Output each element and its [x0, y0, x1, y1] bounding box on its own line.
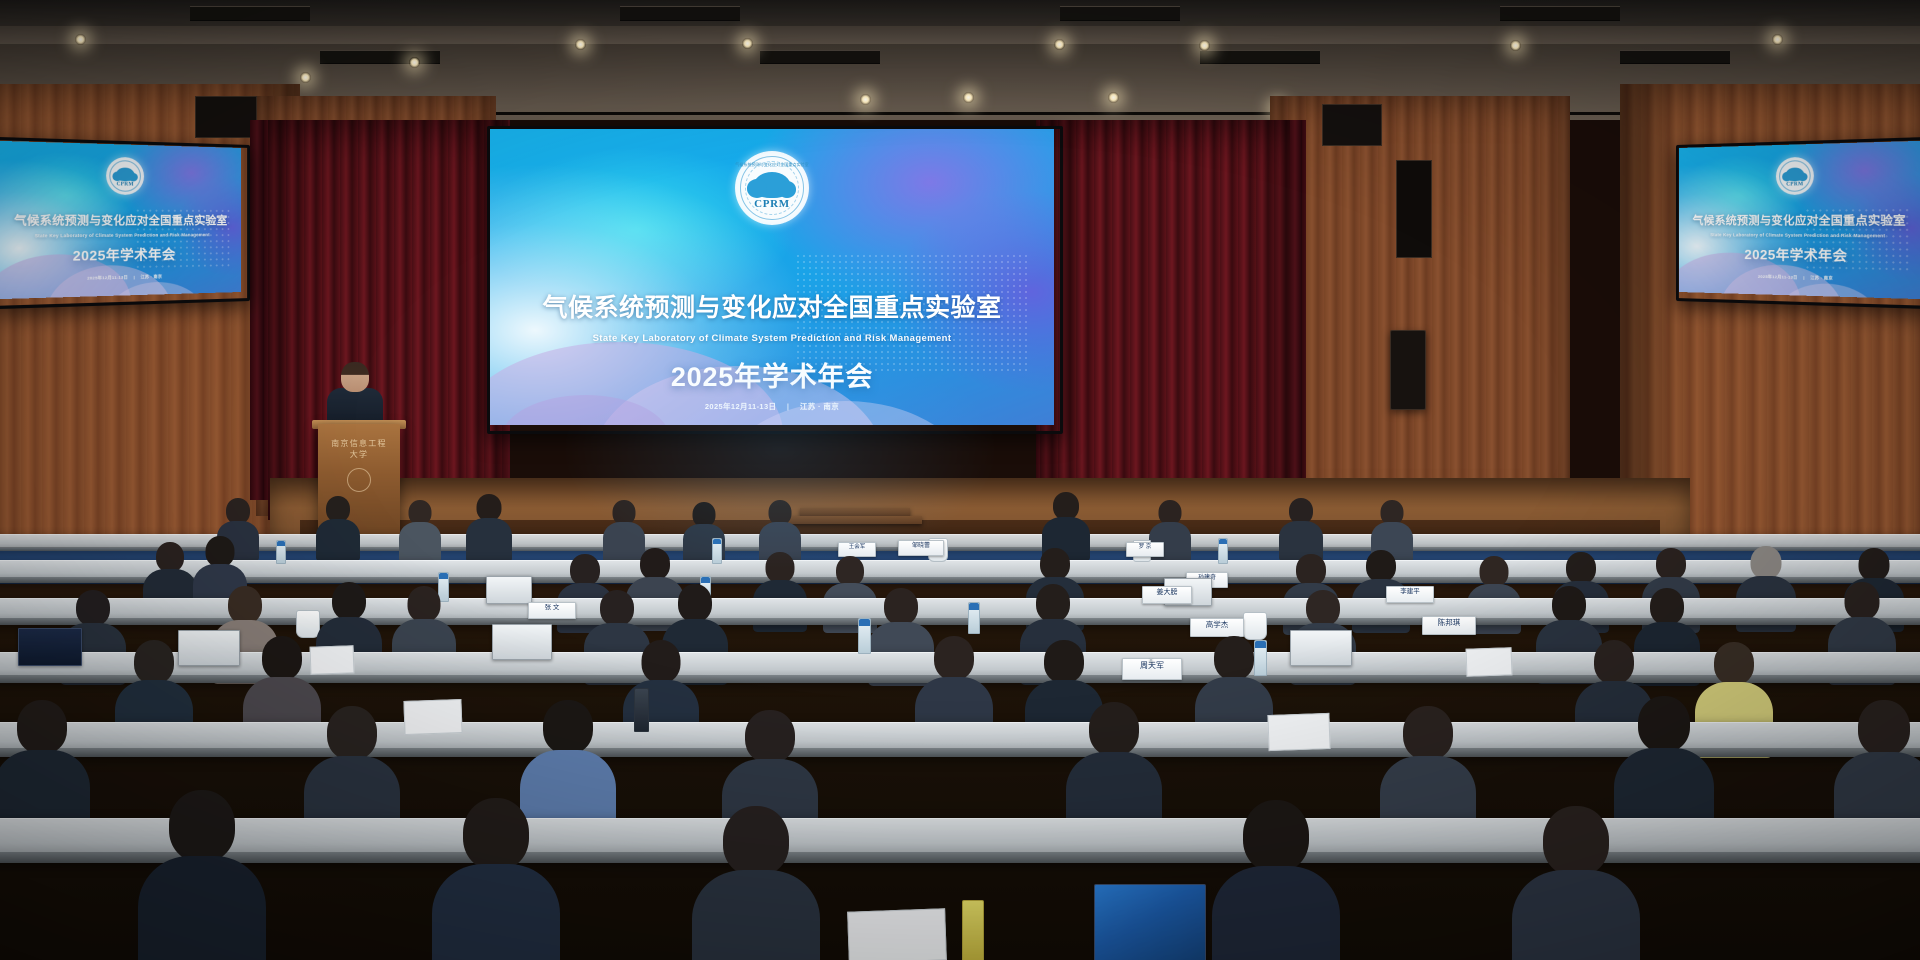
torso [399, 522, 441, 562]
head [17, 700, 67, 754]
wall-speaker-right-lower [1390, 330, 1426, 410]
head [1751, 546, 1782, 579]
cloud-icon [115, 168, 135, 181]
ceiling-vent [1060, 6, 1180, 21]
head [1543, 806, 1609, 876]
ceiling-vent [760, 50, 880, 64]
head [1306, 590, 1340, 626]
ceiling-vent [1200, 50, 1320, 64]
cprm-crest: CPRM [106, 157, 144, 195]
ceiling-downlight [409, 57, 420, 68]
head [1566, 552, 1596, 584]
screen-meta-separator: | [129, 274, 139, 279]
ceiling-downlight [300, 72, 311, 83]
desk-lip [0, 852, 1920, 863]
wall-speaker-right [1322, 104, 1382, 146]
ceiling-vent [320, 50, 440, 64]
head [836, 556, 864, 586]
cprm-crest: 气候系统预测与变化应对全国重点实验室 CPRM [735, 151, 809, 225]
screen-meta-separator: | [779, 402, 797, 411]
head [1036, 584, 1070, 622]
head [1053, 492, 1079, 520]
university-seal-icon [347, 468, 371, 492]
torso [692, 870, 820, 960]
right-led-panel[interactable]: CPRM 气候系统预测与变化应对全国重点实验室 State Key Labora… [1679, 141, 1920, 299]
desk-lip [0, 577, 1920, 583]
head [884, 588, 918, 625]
audience-member [468, 494, 510, 558]
nameplate: 李建平 [1386, 586, 1434, 603]
laptop[interactable] [1290, 630, 1352, 666]
nameplate: 张 文 [528, 602, 576, 619]
torso [1512, 870, 1640, 960]
head [1858, 700, 1910, 756]
screen-meta-place: 江苏 · 南京 [800, 402, 839, 411]
presenter-head [341, 362, 369, 392]
cprm-crest: CPRM [1776, 157, 1814, 195]
screen-meta-date: 2025年12月11-13日 [705, 402, 777, 411]
water-bottle [968, 602, 980, 634]
main-led-wall[interactable]: 气候系统预测与变化应对全国重点实验室 CPRM 气候系统预测与变化应对全国重点实… [490, 129, 1054, 425]
head [1366, 550, 1396, 582]
audience-member [1220, 800, 1332, 960]
desk-row-1 [0, 534, 1920, 551]
head [1594, 640, 1634, 684]
wall-mid-right [1270, 96, 1570, 516]
audience-member [146, 790, 258, 960]
paper-handout [1267, 713, 1330, 751]
torso [1212, 866, 1340, 960]
ceiling-vent [1620, 50, 1730, 64]
head [600, 590, 634, 626]
audience-member [760, 500, 800, 558]
audience-member [1520, 806, 1632, 960]
desk-lip [0, 618, 1920, 625]
head [477, 494, 502, 521]
head [1040, 548, 1070, 580]
screen-meta-line: 2025年12月11-13日 | 江苏 · 南京 [490, 401, 1054, 412]
nameplate: 周天军 [1122, 658, 1182, 680]
head [1480, 556, 1509, 587]
ceiling-downlight [963, 92, 974, 103]
screen-meta-date: 2025年12月11-13日 [1758, 274, 1798, 280]
paper-handout [403, 699, 462, 735]
head [1638, 696, 1690, 752]
crest-acronym: CPRM [1776, 182, 1814, 188]
lectern-plate: 南京信息工程大学 [328, 438, 390, 451]
laptop[interactable] [492, 624, 552, 660]
head [1296, 554, 1326, 586]
head [745, 710, 795, 763]
auditorium-photo: 气候系统预测与变化应对全国重点实验室 CPRM 气候系统预测与变化应对全国重点实… [0, 0, 1920, 960]
main-slide: 气候系统预测与变化应对全国重点实验室 CPRM 气候系统预测与变化应对全国重点实… [490, 129, 1054, 425]
nameplate: 王会军 [838, 542, 876, 557]
bottle-cap [1219, 539, 1227, 544]
water-bottle [276, 540, 286, 564]
screen-title-cn: 气候系统预测与变化应对全国重点实验室 [490, 288, 1054, 324]
wall-speaker-left [195, 96, 257, 138]
screen-title-cn: 气候系统预测与变化应对全国重点实验室 [1679, 211, 1920, 229]
ceiling-downlight [742, 38, 753, 49]
water-bottle [712, 538, 722, 564]
cloud-icon [1785, 168, 1805, 181]
head [1044, 640, 1084, 683]
water-bottle [962, 900, 984, 960]
audience-member [700, 806, 812, 960]
audience-member [400, 500, 440, 558]
ceiling-band-2 [0, 26, 1920, 44]
desk-row-3 [0, 598, 1920, 625]
head [332, 582, 366, 620]
head [543, 700, 593, 754]
torso [316, 519, 360, 561]
crest-acronym: CPRM [106, 182, 144, 188]
head [723, 806, 789, 876]
screen-meta-date: 2025年12月11-13日 [87, 274, 128, 280]
head [678, 584, 712, 622]
head [408, 586, 441, 622]
head [262, 636, 302, 680]
head [766, 552, 795, 583]
head [156, 542, 184, 572]
audience-member [318, 496, 358, 558]
nameplate: 罗 京 [1126, 542, 1164, 557]
head [640, 548, 670, 580]
nameplate: 陈邦琪 [1422, 616, 1476, 635]
right-slide: CPRM 气候系统预测与变化应对全国重点实验室 State Key Labora… [1679, 141, 1920, 299]
ceiling-downlight [1054, 39, 1065, 50]
laptop[interactable] [18, 628, 82, 666]
head [206, 536, 235, 567]
paper-handout [847, 908, 947, 960]
head [76, 590, 110, 626]
screen-subtitle-en: State Key Laboratory of Climate System P… [1679, 232, 1920, 239]
screen-meta-place: 江苏 · 南京 [140, 274, 162, 280]
head [228, 586, 262, 624]
desk-row-6 [0, 818, 1920, 863]
water-bottle [634, 688, 649, 732]
left-led-panel[interactable]: CPRM 气候系统预测与变化应对全国重点实验室 State Key Labora… [0, 141, 241, 299]
ceiling-downlight [1199, 40, 1210, 51]
head [1845, 582, 1880, 620]
screen-meta-separator: | [1799, 275, 1809, 280]
cloud-icon [753, 172, 791, 197]
crest-arc-text: 气候系统预测与变化应对全国重点实验室 [735, 162, 809, 168]
desk-row-2 [0, 560, 1920, 583]
head [1403, 706, 1453, 760]
ceiling-downlight [860, 94, 871, 105]
ceiling-vent [190, 6, 310, 21]
ceiling-downlight [575, 39, 586, 50]
bottle-cap [439, 573, 448, 579]
conference-folder[interactable] [1094, 884, 1206, 960]
head [1214, 636, 1254, 680]
ceiling-vent [620, 6, 740, 21]
head [570, 554, 600, 586]
nameplate: 姜大膀 [1142, 586, 1192, 604]
bottle-cap [713, 539, 721, 544]
head [1714, 642, 1754, 685]
ceiling-downlight [1772, 34, 1783, 45]
head [1243, 800, 1309, 872]
paper-handout [310, 645, 355, 675]
head [134, 640, 174, 684]
screen-event-title: 2025年学术年会 [490, 355, 1054, 394]
head [1089, 702, 1139, 756]
stage-step [788, 516, 922, 524]
head [327, 706, 377, 760]
tea-cup [296, 610, 320, 638]
torso [432, 864, 560, 960]
left-slide: CPRM 气候系统预测与变化应对全国重点实验室 State Key Labora… [0, 141, 241, 299]
torso [138, 856, 266, 960]
screen-meta-place: 江苏 · 南京 [1810, 275, 1833, 281]
bottle-cap [969, 603, 979, 610]
screen-subtitle-en: State Key Laboratory of Climate System P… [490, 333, 1054, 344]
head [1859, 548, 1890, 581]
nameplate: 高学杰 [1190, 618, 1244, 637]
water-bottle [1218, 538, 1228, 564]
screen-title-cn: 气候系统预测与变化应对全国重点实验室 [0, 211, 241, 229]
bottle-cap [277, 541, 285, 546]
water-bottle [858, 618, 871, 654]
audience-member [1280, 498, 1322, 558]
ceiling-downlight [1510, 40, 1521, 51]
stage-curtain-right [1040, 120, 1290, 520]
nameplate: 邹晓蕾 [898, 540, 944, 556]
head [1552, 586, 1586, 623]
stage-step [800, 508, 910, 516]
paper-handout [1466, 647, 1513, 677]
torso [466, 518, 512, 562]
head [169, 790, 235, 862]
head [642, 640, 681, 683]
head [1650, 588, 1684, 625]
ceiling-downlight [1108, 92, 1119, 103]
bottle-cap [859, 619, 870, 626]
head [1656, 548, 1686, 580]
head [463, 798, 529, 870]
head [934, 636, 974, 680]
nameplate-spare: 黄 平 [1150, 658, 1152, 662]
crest-acronym: CPRM [735, 198, 809, 210]
bottle-cap [701, 577, 710, 583]
audience-member [440, 798, 552, 960]
laptop[interactable] [486, 576, 532, 604]
wall-column-right [1396, 160, 1432, 258]
desk-lip [0, 547, 1920, 551]
ceiling-downlight [75, 34, 86, 45]
ceiling-vent [1500, 6, 1620, 21]
